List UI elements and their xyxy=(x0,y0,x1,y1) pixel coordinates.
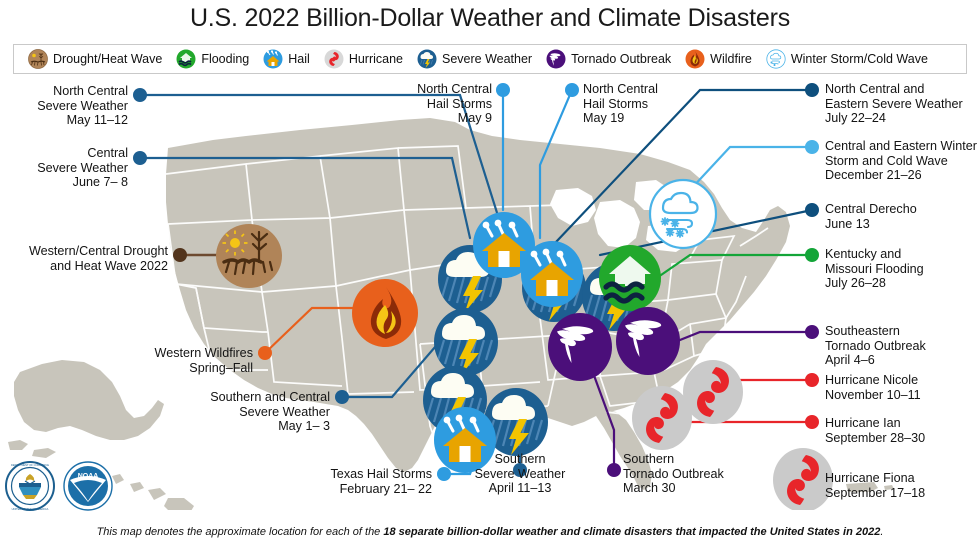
legend-item-hail[interactable]: Hail xyxy=(263,49,310,69)
drought-icon xyxy=(28,49,48,69)
noaa-logo: NOAA xyxy=(64,462,112,510)
label-line: Eastern Severe Weather xyxy=(825,97,980,112)
legend-label-tornado: Tornado Outbreak xyxy=(571,52,671,66)
label-line: May 19 xyxy=(583,111,733,126)
map-icon-winter-storm[interactable] xyxy=(650,180,716,248)
dot-winter-storm xyxy=(805,140,819,154)
flooding-icon xyxy=(176,49,196,69)
legend-label-hurricane: Hurricane xyxy=(349,52,403,66)
label-line: Severe Weather xyxy=(0,405,330,420)
map-icon-drought[interactable] xyxy=(216,224,282,288)
label-line: March 30 xyxy=(623,481,793,496)
dot-central-derecho xyxy=(805,203,819,217)
legend-label-flooding: Flooding xyxy=(201,52,249,66)
winter-storm-icon xyxy=(766,49,786,69)
label-line: North Central xyxy=(350,82,492,97)
dot-hurricane-ian xyxy=(805,415,819,429)
label-line: May 9 xyxy=(350,111,492,126)
label-line: Texas Hail Storms xyxy=(180,467,432,482)
dot-nc-hail-may19 xyxy=(565,83,579,97)
dot-ky-mo-flooding xyxy=(805,248,819,262)
tornado-icon xyxy=(546,49,566,69)
label-hurricane-fiona[interactable]: Hurricane Fiona September 17–18 xyxy=(825,471,980,500)
label-line: Central Derecho xyxy=(825,202,975,217)
label-north-central-hail-may-9[interactable]: North Central Hail Storms May 9 xyxy=(350,82,492,126)
footer-strong: 18 separate billion-dollar weather and c… xyxy=(383,526,880,538)
label-line: June 7– 8 xyxy=(0,175,128,190)
dot-nc-hail-may9 xyxy=(496,83,510,97)
severe-weather-icon xyxy=(417,49,437,69)
label-line: July 22–24 xyxy=(825,111,980,126)
dot-southern-tornado xyxy=(607,463,621,477)
label-line: Hail Storms xyxy=(350,97,492,112)
label-line: Southern xyxy=(444,452,596,467)
legend-label-severe-weather: Severe Weather xyxy=(442,52,532,66)
map-icon-hurricane-nicole[interactable] xyxy=(683,360,743,424)
label-line: North Central and xyxy=(825,82,980,97)
footer-pre: This map denotes the approximate locatio… xyxy=(97,526,384,538)
label-central-eastern-winter-storm[interactable]: Central and Eastern Winter Storm and Col… xyxy=(825,139,980,183)
map-icon-hurricane-ian[interactable] xyxy=(632,386,692,450)
label-line: April 11–13 xyxy=(444,481,596,496)
label-western-wildfires[interactable]: Western Wildfires Spring–Fall xyxy=(0,346,253,375)
label-line: Kentucky and xyxy=(825,247,975,262)
dot-southern-central-severe-weather xyxy=(335,390,349,404)
dot-nc-eastern-severe xyxy=(805,83,819,97)
label-southern-tornado-outbreak[interactable]: Southern Tornado Outbreak March 30 xyxy=(623,452,793,496)
label-hurricane-ian[interactable]: Hurricane Ian September 28–30 xyxy=(825,416,980,445)
map-icon-flooding[interactable] xyxy=(599,245,661,311)
label-line: Southern xyxy=(623,452,793,467)
label-line: May 11–12 xyxy=(0,113,128,128)
agency-logos: DEPARTMENT OF COMMERCE UNITED STATES OF … xyxy=(4,458,116,514)
legend-item-flooding[interactable]: Flooding xyxy=(176,49,249,69)
label-kentucky-missouri-flooding[interactable]: Kentucky and Missouri Flooding July 26–2… xyxy=(825,247,975,291)
label-central-derecho[interactable]: Central Derecho June 13 xyxy=(825,202,975,231)
label-line: December 21–26 xyxy=(825,168,980,183)
map-icon-tornado-southeastern[interactable] xyxy=(616,307,680,375)
label-line: and Heat Wave 2022 xyxy=(0,259,168,274)
label-line: Hail Storms xyxy=(583,97,733,112)
legend-label-wildfire: Wildfire xyxy=(710,52,752,66)
label-line: February 21– 22 xyxy=(180,482,432,497)
label-line: Missouri Flooding xyxy=(825,262,975,277)
dot-wildfire xyxy=(258,346,272,360)
legend-item-wildfire[interactable]: Wildfire xyxy=(685,49,752,69)
map-icon-hail-may19[interactable] xyxy=(521,241,583,307)
label-southern-severe-weather[interactable]: Southern Severe Weather April 11–13 xyxy=(444,452,596,496)
label-line: North Central xyxy=(583,82,733,97)
label-line: Severe Weather xyxy=(0,161,128,176)
label-hurricane-nicole[interactable]: Hurricane Nicole November 10–11 xyxy=(825,373,975,402)
label-north-central-eastern-severe-weather[interactable]: North Central and Eastern Severe Weather… xyxy=(825,82,980,126)
label-north-central-severe-weather[interactable]: North Central Severe Weather May 11–12 xyxy=(0,84,128,128)
legend-item-severe-weather[interactable]: Severe Weather xyxy=(417,49,532,69)
page-title: U.S. 2022 Billion-Dollar Weather and Cli… xyxy=(0,4,980,33)
label-line: Southern and Central xyxy=(0,390,330,405)
label-line: Hurricane Fiona xyxy=(825,471,980,486)
label-line: Southeastern xyxy=(825,324,975,339)
leader-winter-storm xyxy=(690,147,812,190)
label-line: May 1– 3 xyxy=(0,419,330,434)
department-of-commerce-seal: DEPARTMENT OF COMMERCE UNITED STATES OF … xyxy=(6,462,54,511)
label-line: July 26–28 xyxy=(825,276,975,291)
legend-label-winter-storm: Winter Storm/Cold Wave xyxy=(791,52,928,66)
map-icon-tornado-southern[interactable] xyxy=(548,313,612,381)
legend-item-drought[interactable]: Drought/Heat Wave xyxy=(28,49,162,69)
label-southeastern-tornado-outbreak[interactable]: Southeastern Tornado Outbreak April 4–6 xyxy=(825,324,975,368)
dot-central-severe-weather xyxy=(133,151,147,165)
label-line: Western/Central Drought xyxy=(0,244,168,259)
footer-note: This map denotes the approximate locatio… xyxy=(0,526,980,538)
legend-label-drought: Drought/Heat Wave xyxy=(53,52,162,66)
label-western-central-drought[interactable]: Western/Central Drought and Heat Wave 20… xyxy=(0,244,168,273)
legend-item-tornado[interactable]: Tornado Outbreak xyxy=(546,49,671,69)
label-line: Western Wildfires xyxy=(0,346,253,361)
hurricane-icon xyxy=(324,49,344,69)
label-texas-hail-storms[interactable]: Texas Hail Storms February 21– 22 xyxy=(180,467,432,496)
label-line: Central and Eastern Winter xyxy=(825,139,980,154)
label-line: North Central xyxy=(0,84,128,99)
label-line: Hurricane Nicole xyxy=(825,373,975,388)
svg-text:UNITED STATES OF AMERICA: UNITED STATES OF AMERICA xyxy=(12,507,49,511)
dot-hurricane-nicole xyxy=(805,373,819,387)
hail-icon xyxy=(263,49,283,69)
label-line: Severe Weather xyxy=(444,467,596,482)
label-line: Tornado Outbreak xyxy=(623,467,793,482)
label-line: June 13 xyxy=(825,217,975,232)
label-line: Storm and Cold Wave xyxy=(825,154,980,169)
legend-item-hurricane[interactable]: Hurricane xyxy=(324,49,403,69)
map-icon-severe-central[interactable] xyxy=(434,308,498,376)
label-line: Severe Weather xyxy=(0,99,128,114)
label-line: April 4–6 xyxy=(825,353,975,368)
label-line: Central xyxy=(0,146,128,161)
label-line: Tornado Outbreak xyxy=(825,339,975,354)
wildfire-icon xyxy=(685,49,705,69)
label-line: Spring–Fall xyxy=(0,361,253,376)
dot-southeastern-tornado xyxy=(805,325,819,339)
label-southern-central-severe-weather[interactable]: Southern and Central Severe Weather May … xyxy=(0,390,330,434)
label-line: September 28–30 xyxy=(825,431,980,446)
svg-text:DEPARTMENT OF COMMERCE: DEPARTMENT OF COMMERCE xyxy=(11,463,49,467)
label-central-severe-weather[interactable]: Central Severe Weather June 7– 8 xyxy=(0,146,128,190)
legend-label-hail: Hail xyxy=(288,52,310,66)
label-north-central-hail-may-19[interactable]: North Central Hail Storms May 19 xyxy=(583,82,733,126)
legend-item-winter-storm[interactable]: Winter Storm/Cold Wave xyxy=(766,49,928,69)
label-line: Hurricane Ian xyxy=(825,416,980,431)
map-icon-wildfire[interactable] xyxy=(352,279,418,347)
label-line: November 10–11 xyxy=(825,388,975,403)
footer-post: . xyxy=(880,526,883,538)
svg-text:NOAA: NOAA xyxy=(78,473,99,480)
dot-north-central-severe-weather xyxy=(133,88,147,102)
dot-drought xyxy=(173,248,187,262)
label-line: September 17–18 xyxy=(825,486,980,501)
